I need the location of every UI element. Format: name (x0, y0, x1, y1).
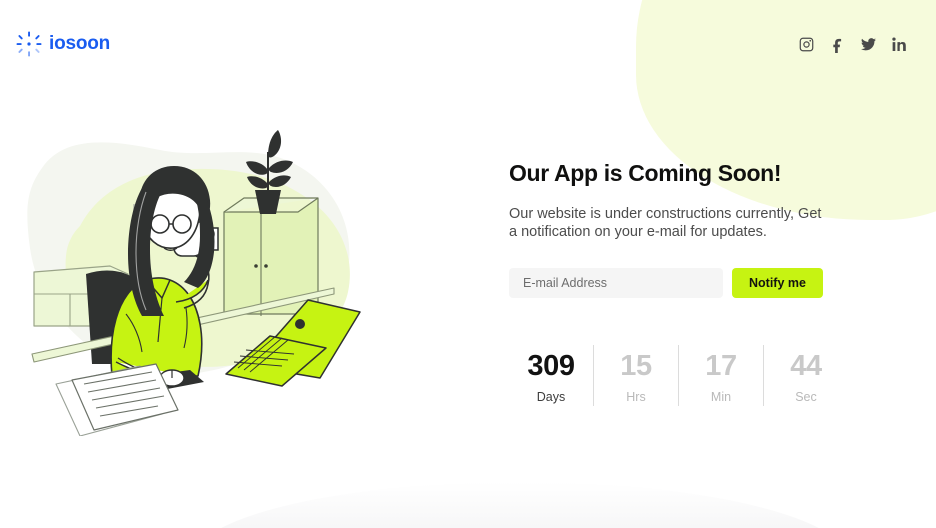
hero-illustration (14, 76, 424, 436)
countdown-label-seconds: Sec (764, 390, 848, 404)
linkedin-icon[interactable] (891, 36, 908, 53)
email-field[interactable] (509, 268, 723, 298)
countdown-value-days: 309 (509, 348, 593, 384)
countdown-label-hours: Hrs (594, 390, 678, 404)
countdown-value-minutes: 17 (679, 348, 763, 384)
facebook-icon[interactable] (829, 36, 846, 53)
hero-content: Our App is Coming Soon! Our website is u… (509, 160, 909, 406)
brand-logo[interactable]: iosoon (16, 31, 110, 57)
countdown-unit-hours: 15 Hrs (594, 345, 678, 406)
instagram-icon[interactable] (798, 36, 815, 53)
countdown-unit-seconds: 44 Sec (764, 345, 848, 406)
countdown-unit-days: 309 Days (509, 345, 593, 406)
sparkle-burst-icon (16, 31, 42, 57)
social-links (798, 36, 908, 53)
countdown-timer: 309 Days 15 Hrs 17 Min 44 Sec (509, 345, 909, 406)
notify-me-button[interactable]: Notify me (732, 268, 823, 298)
page-subtitle: Our website is under constructions curre… (509, 205, 827, 242)
countdown-unit-minutes: 17 Min (679, 345, 763, 406)
twitter-icon[interactable] (860, 36, 877, 53)
countdown-label-days: Days (509, 390, 593, 404)
page-header: iosoon (0, 0, 936, 88)
notify-form: Notify me (509, 268, 909, 298)
countdown-value-hours: 15 (594, 348, 678, 384)
countdown-value-seconds: 44 (764, 348, 848, 384)
page-title: Our App is Coming Soon! (509, 160, 909, 188)
brand-name: iosoon (49, 33, 110, 55)
countdown-label-minutes: Min (679, 390, 763, 404)
